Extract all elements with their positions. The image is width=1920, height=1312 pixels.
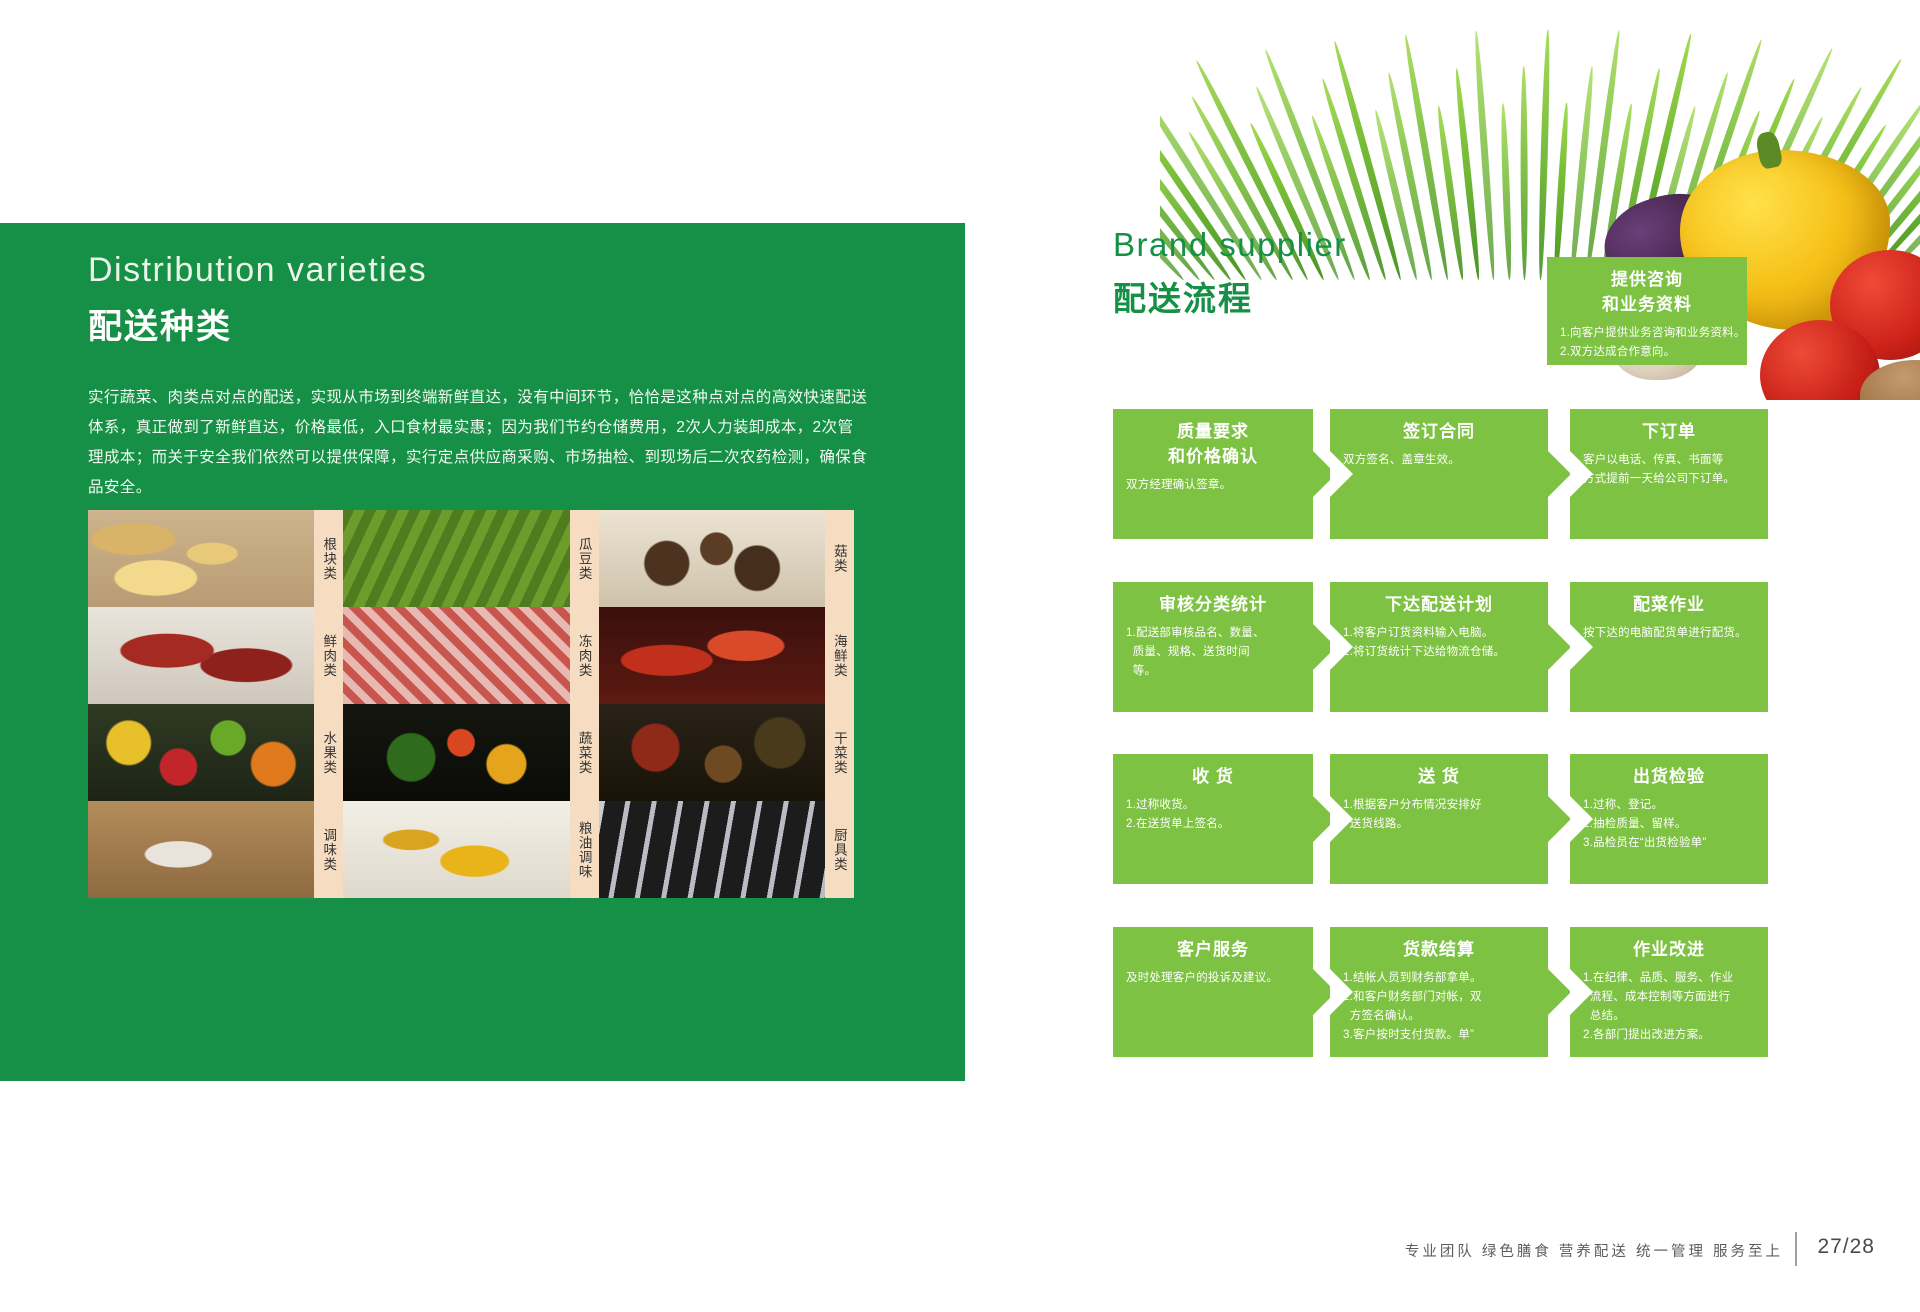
food-category-label: 海鲜类 (825, 607, 854, 704)
flow-step-detail-line: 质量、规格、送货时间 (1126, 643, 1300, 662)
flow-step-title: 配菜作业 (1583, 592, 1755, 617)
flow-step-box: 配菜作业按下达的电脑配货单进行配货。 (1570, 582, 1768, 712)
flow-step-detail-line: 2.在送货单上签名。 (1126, 815, 1300, 834)
left-paragraph: 实行蔬菜、肉类点对点的配送，实现从市场到终端新鲜直达，没有中间环节，恰恰是这种点… (88, 383, 868, 503)
page-number: 27/28 (1817, 1235, 1875, 1259)
brochure-page: Distribution varieties 配送种类 实行蔬菜、肉类点对点的配… (0, 0, 1920, 1312)
fresh-beef-photo (88, 607, 314, 704)
mushroom-basket-photo (599, 510, 825, 607)
flow-step-detail-line: 1.将客户订货资料输入电脑。 (1343, 624, 1535, 643)
flow-step-title: 质量要求 和价格确认 (1126, 419, 1300, 469)
right-title-cn: 配送流程 (1113, 272, 1253, 320)
food-category-label: 菇类 (825, 510, 854, 607)
seafood-photo (599, 607, 825, 704)
flow-step-box: 审核分类统计1.配送部审核品名、数量、 质量、规格、送货时间 等。 (1113, 582, 1313, 712)
flow-step-detail-line: 方式提前一天给公司下订单。 (1583, 470, 1755, 489)
flow-step-detail-line: 双方签名、盖章生效。 (1343, 451, 1535, 470)
food-category-label: 厨具类 (825, 801, 854, 898)
food-category-grid: 根块类瓜豆类菇类鲜肉类冻肉类海鲜类水果类蔬菜类干菜类调味类粮油调味厨具类 (88, 510, 854, 898)
flow-step-title: 收 货 (1126, 764, 1300, 789)
food-category-label: 鲜肉类 (314, 607, 343, 704)
flow-step-detail-line: 1.过称、登记。 (1583, 796, 1755, 815)
flow-step-box: 质量要求 和价格确认双方经理确认签章。 (1113, 409, 1313, 539)
flow-step-detail-line: 1.向客户提供业务咨询和业务资料。 (1560, 324, 1734, 343)
flow-step-detail-line: 客户以电话、传真、书面等 (1583, 451, 1755, 470)
flow-step-title: 提供咨询 和业务资料 (1560, 267, 1734, 317)
left-title-en: Distribution varieties (88, 251, 427, 290)
food-category-label: 调味类 (314, 801, 343, 898)
flow-step-detail-line: 总结。 (1583, 1007, 1755, 1026)
flow-step-detail-line: 2.和客户财务部门对帐，双 (1343, 988, 1535, 1007)
frozen-pork-tray-photo (343, 607, 569, 704)
food-category-tile: 海鲜类 (599, 607, 854, 704)
flow-step-box: 提供咨询 和业务资料1.向客户提供业务咨询和业务资料。2.双方达成合作意向。 (1547, 257, 1747, 365)
flow-step-detail-line: 等。 (1126, 662, 1300, 681)
mixed-fruit-photo (88, 704, 314, 801)
flow-step-detail-line: 3.客户按时支付货款。单” (1343, 1026, 1535, 1045)
flow-step-detail-line: 1.在纪律、品质、服务、作业 (1583, 969, 1755, 988)
flow-step-title: 出货检验 (1583, 764, 1755, 789)
flow-step-detail-line: 2.各部门提出改进方案。 (1583, 1026, 1755, 1045)
flow-step-detail-line: 1.结帐人员到财务部拿单。 (1343, 969, 1535, 988)
food-category-label: 瓜豆类 (570, 510, 599, 607)
food-category-tile: 干菜类 (599, 704, 854, 801)
flow-step-title: 客户服务 (1126, 937, 1300, 962)
flow-step-title: 送 货 (1343, 764, 1535, 789)
flow-step-detail-line: 流程、成本控制等方面进行 (1583, 988, 1755, 1007)
footer-divider (1795, 1232, 1797, 1266)
flow-step-box: 送 货1.根据客户分布情况安排好 送货线路。 (1330, 754, 1548, 884)
flow-step-title: 下订单 (1583, 419, 1755, 444)
left-title-cn: 配送种类 (88, 299, 232, 348)
flow-step-box: 客户服务及时处理客户的投诉及建议。 (1113, 927, 1313, 1057)
food-category-tile: 蔬菜类 (343, 704, 598, 801)
flow-step-detail-line: 1.根据客户分布情况安排好 (1343, 796, 1535, 815)
footer-tags: 专业团队 绿色膳食 营养配送 统一管理 服务至上 (1405, 1240, 1783, 1261)
flow-step-title: 签订合同 (1343, 419, 1535, 444)
food-category-tile: 菇类 (599, 510, 854, 607)
flow-step-box: 收 货1.过称收货。2.在送货单上签名。 (1113, 754, 1313, 884)
flow-step-detail-line: 方签名确认。 (1343, 1007, 1535, 1026)
food-category-label: 水果类 (314, 704, 343, 801)
flow-step-detail-line: 2.双方达成合作意向。 (1560, 343, 1734, 362)
food-category-label: 蔬菜类 (570, 704, 599, 801)
right-title-en: Brand supplier (1113, 226, 1347, 264)
cucumber-photo (343, 510, 569, 607)
food-category-tile: 调味类 (88, 801, 343, 898)
food-category-tile: 水果类 (88, 704, 343, 801)
food-category-label: 粮油调味 (570, 801, 599, 898)
cooking-oil-photo (343, 801, 569, 898)
flow-step-detail-line: 送货线路。 (1343, 815, 1535, 834)
flow-step-detail-line: 1.配送部审核品名、数量、 (1126, 624, 1300, 643)
food-category-tile: 厨具类 (599, 801, 854, 898)
food-category-tile: 瓜豆类 (343, 510, 598, 607)
flow-step-box: 下订单客户以电话、传真、书面等方式提前一天给公司下订单。 (1570, 409, 1768, 539)
soy-sauce-spoon-photo (88, 801, 314, 898)
flow-step-detail-line: 3.品检员在“出货检验单” (1583, 834, 1755, 853)
flow-step-detail-line: 按下达的电脑配货单进行配货。 (1583, 624, 1755, 643)
vegetable-basket-photo (343, 704, 569, 801)
flow-step-box: 出货检验1.过称、登记。2.抽检质量、留样。3.品检员在“出货检验单” (1570, 754, 1768, 884)
flow-step-detail-line: 及时处理客户的投诉及建议。 (1126, 969, 1300, 988)
flow-step-title: 下达配送计划 (1343, 592, 1535, 617)
page-footer: 专业团队 绿色膳食 营养配送 统一管理 服务至上 27/28 (1455, 1232, 1875, 1266)
flow-step-detail-line: 2.将订货统计下达给物流仓储。 (1343, 643, 1535, 662)
flow-step-detail-line: 1.过称收货。 (1126, 796, 1300, 815)
dried-goods-photo (599, 704, 825, 801)
food-category-label: 干菜类 (825, 704, 854, 801)
food-category-tile: 鲜肉类 (88, 607, 343, 704)
food-category-tile: 冻肉类 (343, 607, 598, 704)
flow-step-box: 作业改进1.在纪律、品质、服务、作业 流程、成本控制等方面进行 总结。2.各部门… (1570, 927, 1768, 1057)
ginger-slices-photo (88, 510, 314, 607)
flow-step-detail-line: 2.抽检质量、留样。 (1583, 815, 1755, 834)
distribution-varieties-panel: Distribution varieties 配送种类 实行蔬菜、肉类点对点的配… (0, 223, 965, 1081)
kitchen-knives-photo (599, 801, 825, 898)
food-category-tile: 根块类 (88, 510, 343, 607)
flow-step-title: 作业改进 (1583, 937, 1755, 962)
food-category-label: 冻肉类 (570, 607, 599, 704)
flow-step-box: 下达配送计划1.将客户订货资料输入电脑。2.将订货统计下达给物流仓储。 (1330, 582, 1548, 712)
flow-step-box: 货款结算1.结帐人员到财务部拿单。2.和客户财务部门对帐，双 方签名确认。3.客… (1330, 927, 1548, 1057)
food-category-tile: 粮油调味 (343, 801, 598, 898)
flow-step-box: 签订合同双方签名、盖章生效。 (1330, 409, 1548, 539)
flow-step-title: 审核分类统计 (1126, 592, 1300, 617)
flow-step-title: 货款结算 (1343, 937, 1535, 962)
food-category-label: 根块类 (314, 510, 343, 607)
flow-step-detail-line: 双方经理确认签章。 (1126, 476, 1300, 495)
